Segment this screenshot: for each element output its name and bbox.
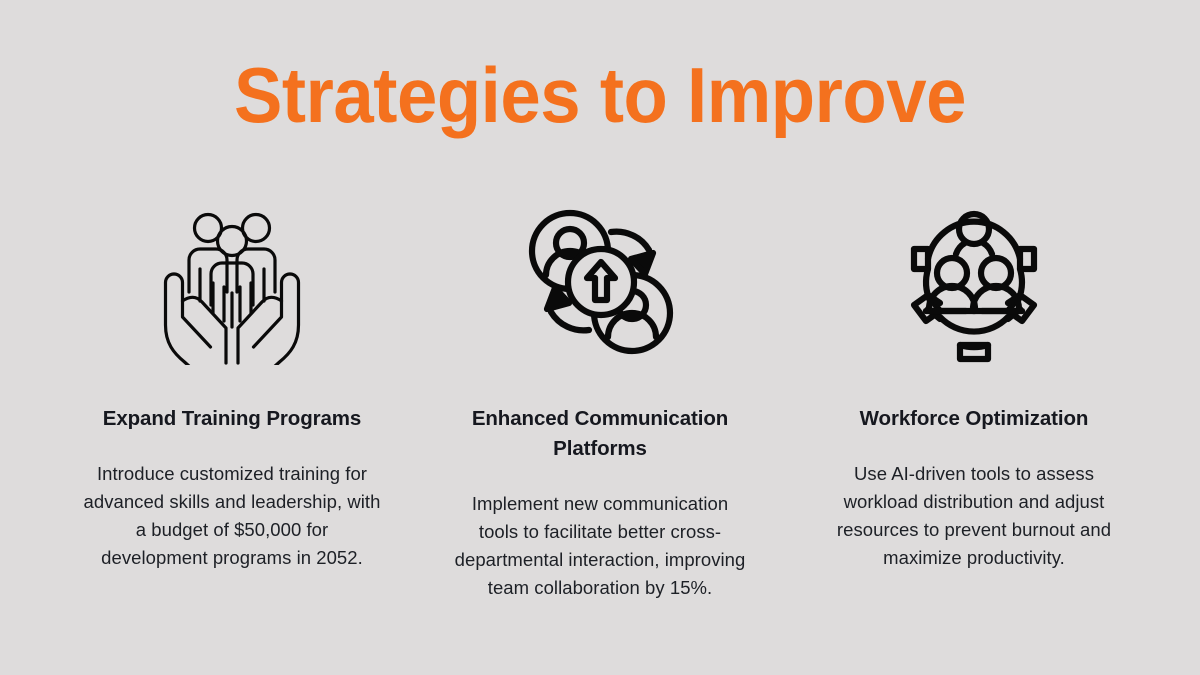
gear-team-optimization-icon [889,196,1059,366]
card-title: Expand Training Programs [103,404,361,434]
strategy-card: Expand Training Programs Introduce custo… [45,196,419,572]
card-body: Introduce customized training for advanc… [81,460,383,572]
hands-holding-people-icon [147,196,317,366]
strategy-cards-row: Expand Training Programs Introduce custo… [0,196,1200,602]
card-body: Implement new communication tools to fac… [452,490,748,602]
card-title: Enhanced Communication Platforms [455,404,745,464]
strategy-card: Workforce Optimization Use AI-driven too… [787,196,1161,572]
page-title: Strategies to Improve [42,48,1158,142]
users-exchange-arrows-icon [515,196,685,366]
card-title: Workforce Optimization [860,404,1089,434]
card-body: Use AI-driven tools to assess workload d… [821,460,1127,572]
strategy-card: Enhanced Communication Platforms Impleme… [413,196,787,602]
slide-root: Strategies to Improve [0,0,1200,675]
